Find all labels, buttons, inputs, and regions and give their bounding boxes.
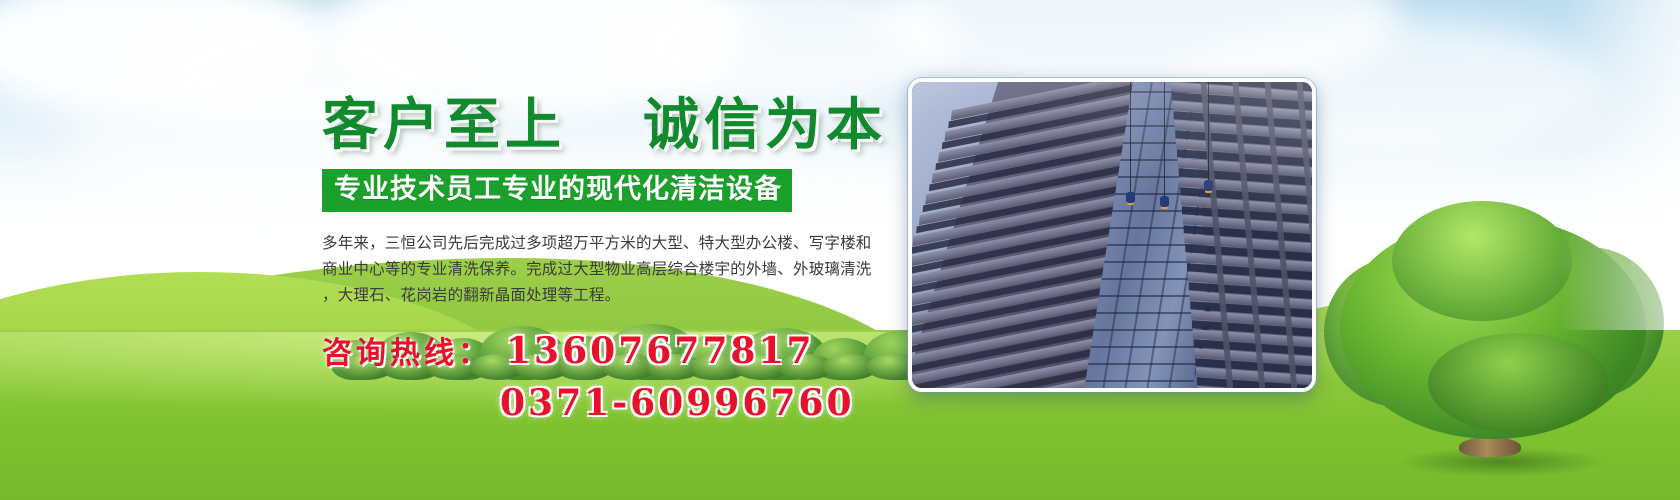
headline-left: 客户至上 [322, 92, 566, 158]
building-photo[interactable] [908, 78, 1316, 392]
paragraph-line: 商业中心等的专业清洗保养。完成过大型物业高层综合楼宇的外墙、外玻璃清洗 [322, 256, 892, 282]
hotline-block: 咨询热线：13607677817 0371-60996760 [322, 328, 902, 424]
paragraph-line: ，大理石、花岗岩的翻新晶面处理等工程。 [322, 282, 892, 308]
hotline-mobile-number[interactable]: 13607677817 [506, 330, 815, 372]
ribbon-text: 专业技术员工专业的现代化清洁设备 [334, 175, 782, 205]
photo-gloss [912, 82, 1312, 388]
hotline-label: 咨询热线： [322, 336, 492, 371]
headline-right: 诚信为本 [643, 92, 887, 158]
headline: 客户至上 诚信为本 [322, 96, 902, 155]
ribbon-badge: 专业技术员工专业的现代化清洁设备 [322, 169, 792, 213]
right-edge-fade [1560, 0, 1680, 330]
tree-canopy [1428, 333, 1608, 433]
description-paragraph: 多年来，三恒公司先后完成过多项超万平方米的大型、特大型办公楼、写字楼和 商业中心… [322, 230, 892, 308]
paragraph-line: 多年来，三恒公司先后完成过多项超万平方米的大型、特大型办公楼、写字楼和 [322, 230, 892, 256]
promo-banner: 客户至上 诚信为本 专业技术员工专业的现代化清洁设备 多年来，三恒公司先后完成过… [0, 0, 1680, 500]
tree-canopy [1392, 201, 1572, 321]
hotline-landline-number[interactable]: 0371-60996760 [500, 382, 902, 424]
copy-block: 客户至上 诚信为本 专业技术员工专业的现代化清洁设备 多年来，三恒公司先后完成过… [322, 96, 902, 424]
